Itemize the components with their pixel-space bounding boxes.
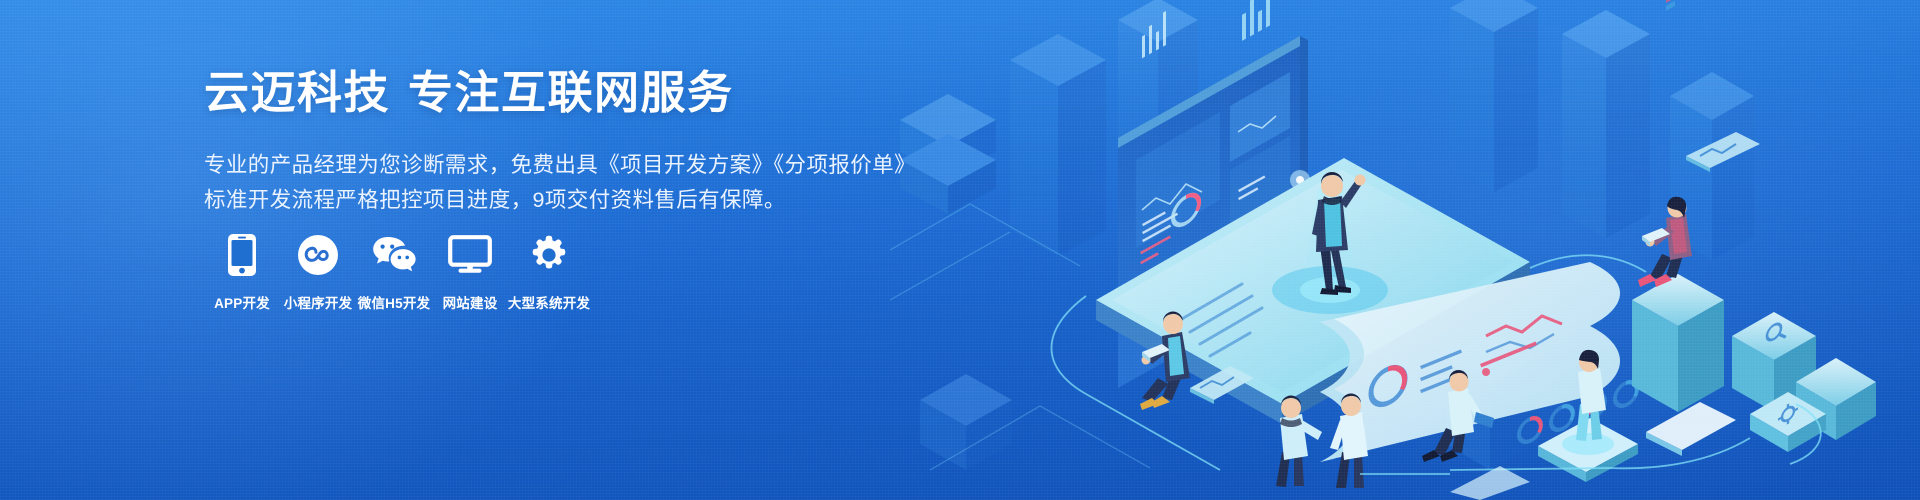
hero-copy: 云迈科技专注互联网服务 专业的产品经理为您诊断需求，免费出具《项目开发方案》《分…	[204, 68, 924, 218]
headline-brand: 云迈科技	[204, 67, 390, 118]
gear-icon	[528, 232, 570, 278]
hero-banner: 云迈科技专注互联网服务 专业的产品经理为您诊断需求，免费出具《项目开发方案》《分…	[0, 0, 1920, 500]
service-label: 小程序开发	[284, 292, 353, 312]
headline-tagline: 专注互联网服务	[408, 67, 734, 118]
subtitle-line-2: 标准开发流程严格把控项目进度，9项交付资料售后有保障。	[204, 183, 924, 218]
service-item-wechat-h5[interactable]: 微信H5开发	[358, 232, 430, 312]
mini-program-icon	[297, 232, 339, 278]
service-label: 大型系统开发	[508, 292, 590, 312]
service-list: APP开发 小程序开发	[206, 232, 592, 312]
service-item-mini-program[interactable]: 小程序开发	[282, 232, 354, 312]
service-item-website[interactable]: 网站建设	[434, 232, 506, 312]
subtitle-line-1: 专业的产品经理为您诊断需求，免费出具《项目开发方案》《分项报价单》	[204, 148, 924, 183]
isometric-illustration	[890, 0, 1890, 500]
service-item-app[interactable]: APP开发	[206, 232, 278, 312]
wechat-icon	[371, 232, 417, 278]
mobile-phone-icon	[227, 232, 257, 278]
standing-people-pair	[1276, 393, 1368, 488]
service-label: 微信H5开发	[358, 292, 430, 312]
service-label: APP开发	[214, 292, 270, 312]
monitor-icon	[448, 232, 492, 278]
hero-subtitle: 专业的产品经理为您诊断需求，免费出具《项目开发方案》《分项报价单》 标准开发流程…	[204, 148, 924, 218]
service-label: 网站建设	[443, 292, 498, 312]
service-item-large-system[interactable]: 大型系统开发	[510, 232, 588, 312]
page-title: 云迈科技专注互联网服务	[204, 68, 924, 118]
